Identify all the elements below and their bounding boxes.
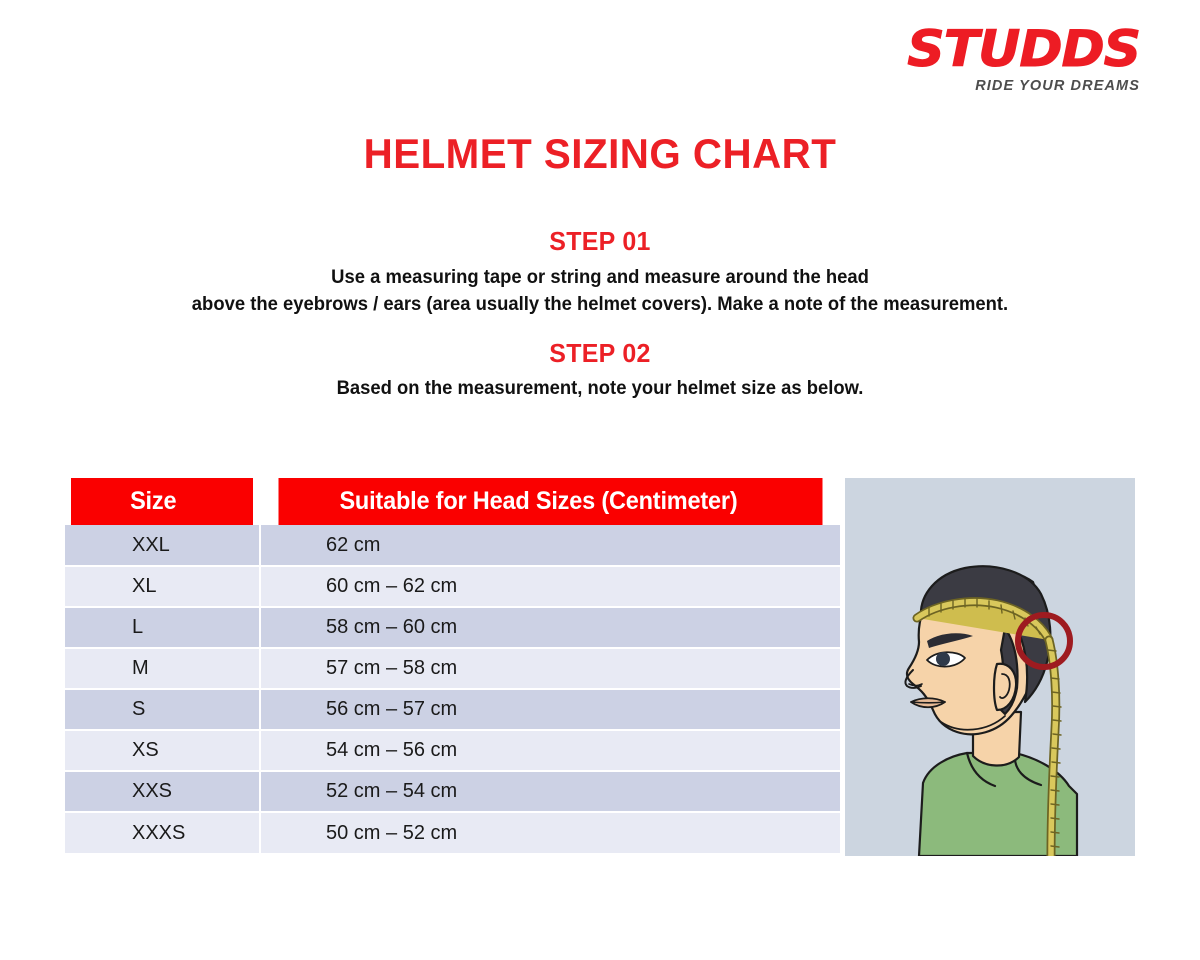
cell-head-size-range: 56 cm – 57 cm (260, 689, 840, 730)
step-02-heading: STEP 02 (24, 338, 1176, 369)
table-row: M57 cm – 58 cm (65, 648, 840, 689)
helmet-sizing-chart-page: STUDDS RIDE YOUR DREAMS HELMET SIZING CH… (0, 0, 1200, 960)
table-row: XXXS50 cm – 52 cm (65, 812, 840, 853)
column-header-size: Size (71, 478, 254, 525)
cell-size: S (65, 689, 260, 730)
eye-iris (936, 652, 950, 666)
head-profile-svg (845, 478, 1135, 856)
cell-size: XXS (65, 771, 260, 812)
table-row: S56 cm – 57 cm (65, 689, 840, 730)
cell-head-size-range: 62 cm (260, 525, 840, 566)
page-title: HELMET SIZING CHART (24, 130, 1176, 178)
step-01-body-line-1: Use a measuring tape or string and measu… (18, 264, 1182, 291)
cell-head-size-range: 57 cm – 58 cm (260, 648, 840, 689)
table-row: L58 cm – 60 cm (65, 607, 840, 648)
cell-size: XL (65, 566, 260, 607)
step-02-body-line-1: Based on the measurement, note your helm… (18, 375, 1182, 402)
studds-logo: STUDDS RIDE YOUR DREAMS (900, 24, 1140, 94)
column-header-range: Suitable for Head Sizes (Centimeter) (277, 478, 822, 525)
step-01-body: Use a measuring tape or string and measu… (18, 264, 1182, 318)
step-01-heading: STEP 01 (24, 226, 1176, 257)
cell-size: XXL (65, 525, 260, 566)
cell-head-size-range: 60 cm – 62 cm (260, 566, 840, 607)
cell-size: XS (65, 730, 260, 771)
table-row: XS54 cm – 56 cm (65, 730, 840, 771)
table-row: XL60 cm – 62 cm (65, 566, 840, 607)
step-01-body-line-2: above the eyebrows / ears (area usually … (18, 291, 1182, 318)
size-table: Size Suitable for Head Sizes (Centimeter… (65, 478, 840, 853)
cell-head-size-range: 58 cm – 60 cm (260, 607, 840, 648)
step-02-body: Based on the measurement, note your helm… (18, 375, 1182, 402)
size-table-head: Size Suitable for Head Sizes (Centimeter… (65, 478, 840, 525)
table-row: XXS52 cm – 54 cm (65, 771, 840, 812)
cell-head-size-range: 52 cm – 54 cm (260, 771, 840, 812)
cell-size: M (65, 648, 260, 689)
size-table-header-row: Size Suitable for Head Sizes (Centimeter… (65, 478, 840, 525)
cell-head-size-range: 50 cm – 52 cm (260, 812, 840, 853)
size-table-container: Size Suitable for Head Sizes (Centimeter… (65, 478, 840, 853)
brand-wordmark: STUDDS (890, 24, 1140, 74)
size-table-body: XXL62 cmXL60 cm – 62 cmL58 cm – 60 cmM57… (65, 525, 840, 853)
head-measurement-illustration (845, 478, 1135, 856)
cell-size: XXXS (65, 812, 260, 853)
brand-tagline: RIDE YOUR DREAMS (900, 78, 1140, 94)
mouth-line (911, 702, 945, 703)
table-row: XXL62 cm (65, 525, 840, 566)
cell-size: L (65, 607, 260, 648)
cell-head-size-range: 54 cm – 56 cm (260, 730, 840, 771)
